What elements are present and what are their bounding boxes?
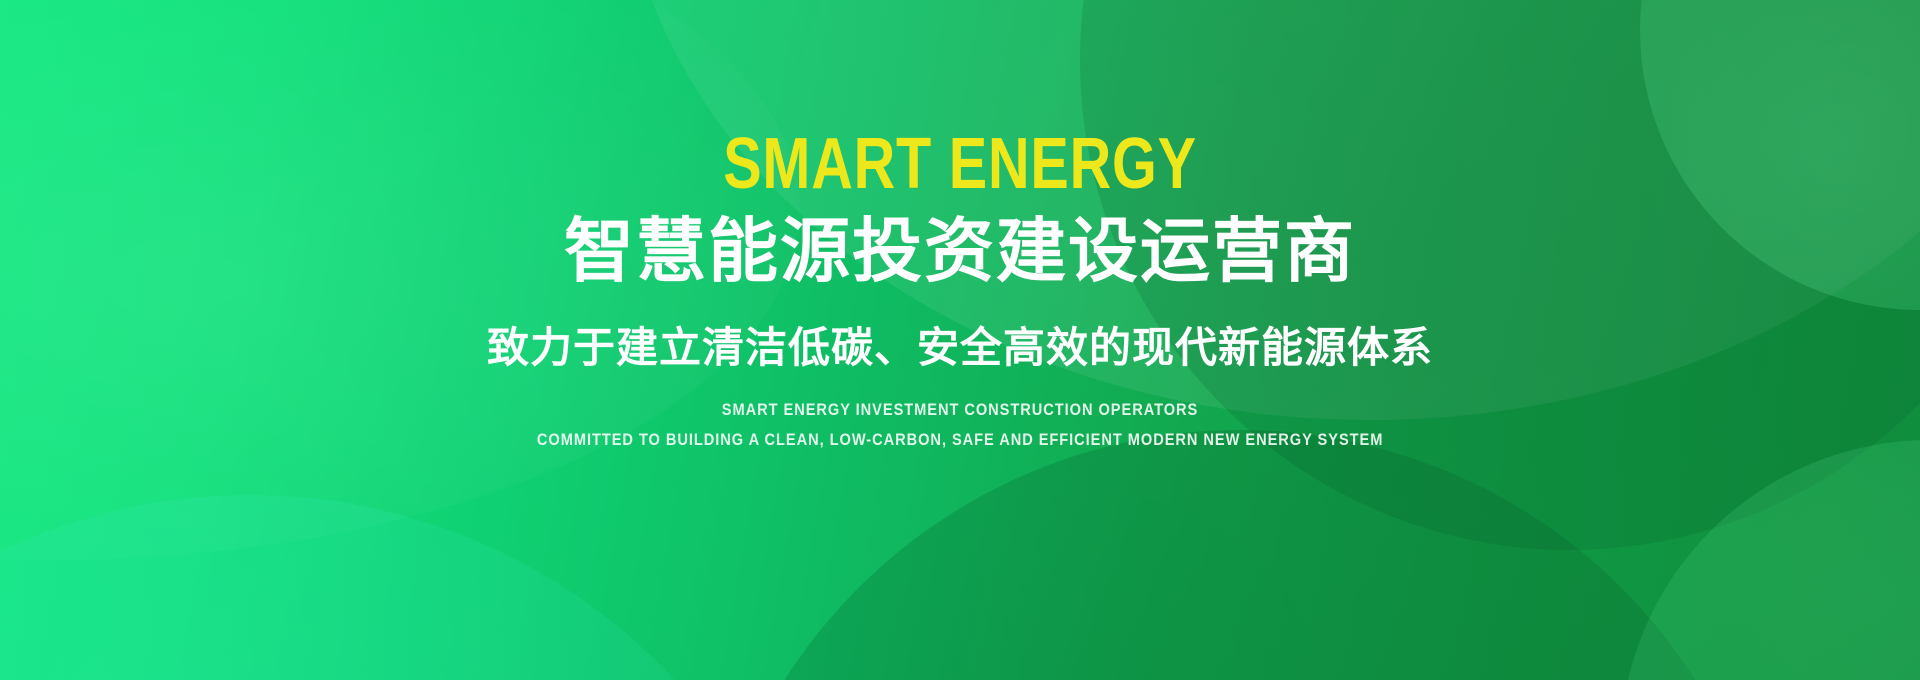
banner-subtitle-english-line-1: SMART ENERGY INVESTMENT CONSTRUCTION OPE… [722, 398, 1198, 423]
banner-headline-english: SMART ENERGY [723, 128, 1197, 200]
hero-banner: SMART ENERGY 智慧能源投资建设运营商 致力于建立清洁低碳、安全高效的… [0, 0, 1920, 680]
banner-subtitle-english-line-2: COMMITTED TO BUILDING A CLEAN, LOW-CARBO… [537, 428, 1383, 453]
banner-headline-chinese: 智慧能源投资建设运营商 [564, 214, 1356, 290]
banner-subtitle-chinese: 致力于建立清洁低碳、安全高效的现代新能源体系 [487, 324, 1433, 372]
banner-content: SMART ENERGY 智慧能源投资建设运营商 致力于建立清洁低碳、安全高效的… [0, 0, 1920, 680]
